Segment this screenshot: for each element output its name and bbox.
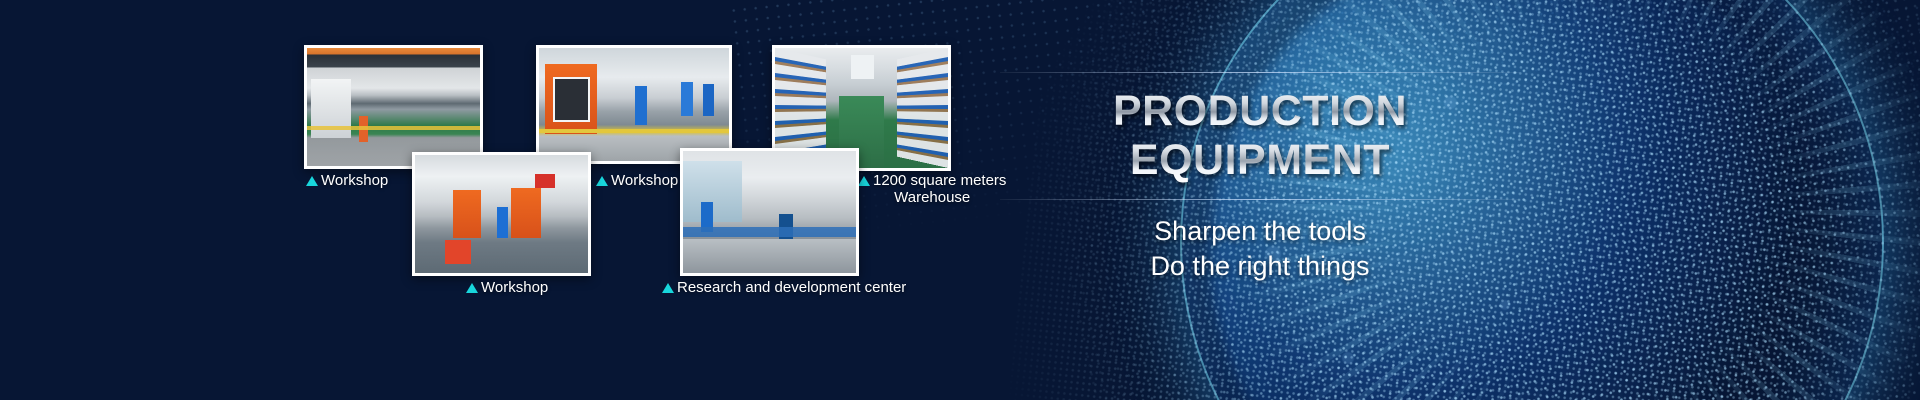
caption-workshop-assembly-floor: Workshop: [466, 279, 548, 296]
caption-text: Workshop: [611, 172, 678, 189]
photo-detail-worker: [497, 207, 508, 238]
caption-text: Research and development center: [677, 279, 906, 296]
photo-detail-worker: [681, 82, 693, 116]
photo-tile-workshop-assembly-floor[interactable]: [412, 152, 591, 276]
photo-detail-machine: [511, 188, 541, 238]
triangle-marker-icon: [306, 176, 318, 186]
headline-line2: EQUIPMENT: [1000, 135, 1520, 185]
triangle-marker-icon: [596, 176, 608, 186]
headline-block: PRODUCTION EQUIPMENT Sharpen the tools D…: [1000, 72, 1520, 284]
photo-detail-far-door: [851, 55, 873, 79]
photo-detail-desk-edge: [683, 227, 856, 237]
bokeh-dot: [1342, 352, 1354, 364]
divider-top: [1000, 72, 1520, 73]
photo-detail-rack-right: [897, 48, 948, 168]
caption-workshop-machining-hall: Workshop: [306, 172, 388, 189]
headline-line1: PRODUCTION: [1000, 87, 1520, 135]
tagline-line1: Sharpen the tools: [1000, 214, 1520, 249]
photo-detail-worker: [703, 84, 714, 116]
caption-warehouse-racking: 1200 square meters Warehouse: [858, 172, 1006, 206]
photo-detail-machine-window: [553, 77, 590, 122]
photo-detail-floor-line: [539, 129, 729, 133]
photo-tile-workshop-machining-hall[interactable]: [304, 45, 483, 169]
tagline-line2: Do the right things: [1000, 249, 1520, 284]
photo-detail-worker: [635, 86, 647, 124]
photo-detail-machine: [453, 190, 481, 237]
caption-text: Workshop: [481, 279, 548, 296]
triangle-marker-icon: [466, 283, 478, 293]
photo-detail-sign: [535, 174, 555, 188]
photo-detail-floor-line: [307, 126, 480, 130]
caption-workshop-cnc-operators: Workshop: [596, 172, 678, 189]
photo-detail-cart: [445, 240, 471, 264]
photo-detail-floor: [683, 239, 856, 273]
photo-tile-workshop-cnc-operators[interactable]: [536, 45, 732, 164]
production-equipment-banner: Workshop Workshop 1200 square meters War…: [0, 0, 1920, 400]
triangle-marker-icon: [662, 283, 674, 293]
caption-text: 1200 square meters: [873, 172, 1006, 189]
triangle-marker-icon: [858, 176, 870, 186]
photo-tile-rnd-center-office[interactable]: [680, 148, 859, 276]
caption-text: Workshop: [321, 172, 388, 189]
caption-text-line2: Warehouse: [858, 189, 1006, 206]
divider-bottom: [1000, 199, 1520, 200]
caption-rnd-center-office: Research and development center: [662, 279, 906, 296]
bokeh-dot: [1500, 300, 1510, 310]
